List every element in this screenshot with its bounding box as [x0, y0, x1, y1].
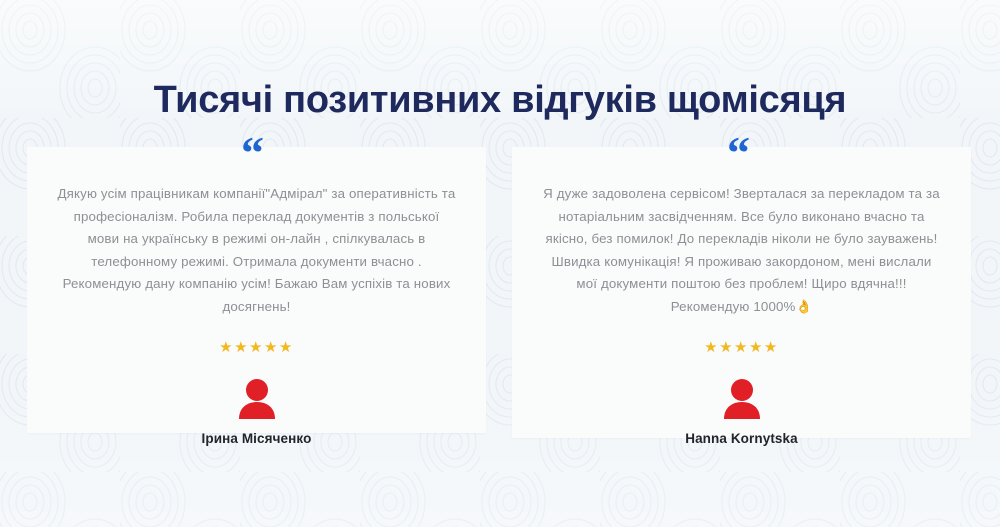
testimonial-text: Я дуже задоволена сервісом! Зверталася з… — [542, 183, 941, 318]
quote-icon: “ — [241, 130, 262, 176]
author-name: Ірина Місяченко — [57, 430, 456, 448]
testimonial-card-body: Я дуже задоволена сервісом! Зверталася з… — [512, 147, 971, 448]
testimonial-card-body: Дякую усім працівникам компанії"Адмірал"… — [27, 147, 486, 448]
testimonial-text: Дякую усім працівникам компанії"Адмірал"… — [57, 183, 456, 318]
rating-stars: ★★★★★ — [57, 340, 456, 356]
testimonials-section: Тисячі позитивних відгуків щомісяця “ Дя… — [0, 0, 1000, 527]
testimonial-card: Я дуже задоволена сервісом! Зверталася з… — [512, 147, 971, 438]
testimonial-card: Дякую усім працівникам компанії"Адмірал"… — [27, 147, 486, 433]
quote-icon: “ — [727, 130, 748, 176]
avatar — [542, 378, 941, 420]
avatar — [57, 378, 456, 420]
rating-stars: ★★★★★ — [542, 340, 941, 356]
user-avatar-icon — [723, 378, 761, 420]
author-name: Hanna Kornytska — [542, 430, 941, 448]
page-title: Тисячі позитивних відгуків щомісяця — [0, 77, 1000, 123]
user-avatar-icon — [238, 378, 276, 420]
